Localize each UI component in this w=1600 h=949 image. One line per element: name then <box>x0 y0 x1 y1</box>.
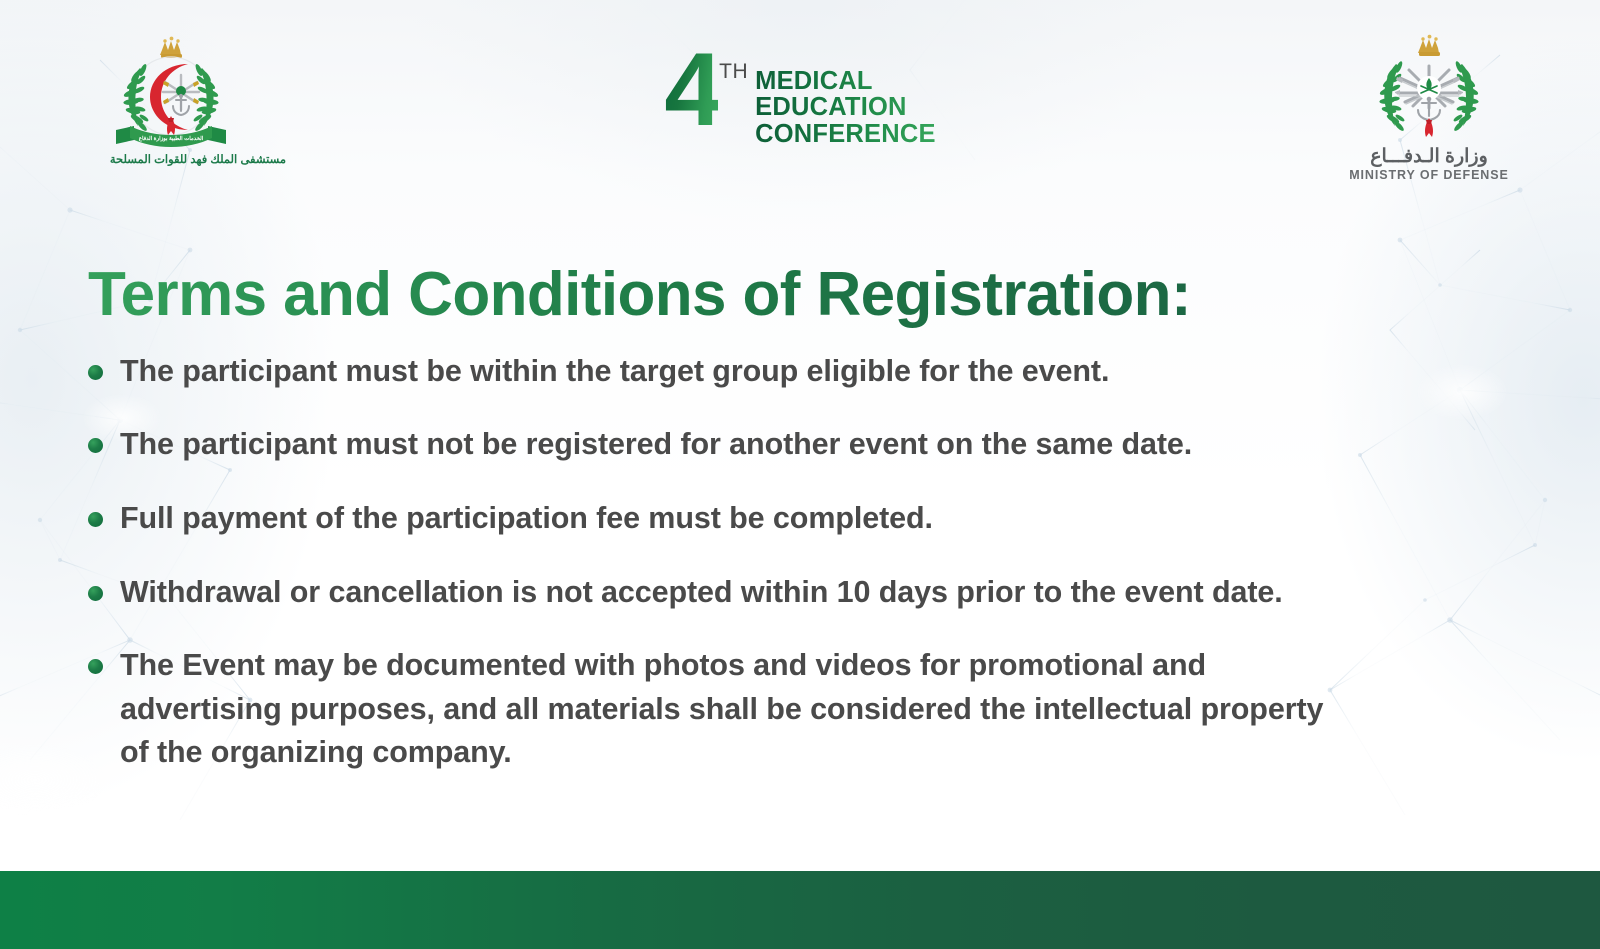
hospital-logo-caption: مستشفى الملك فهد للقوات المسلحة <box>56 154 286 168</box>
conference-line-conference: CONFERENCE <box>755 121 936 147</box>
king-fahd-hospital-emblem-icon: الخدمات الطبية بوزارة الدفاع <box>56 34 286 152</box>
ministry-logo-block: وزارة الـدفـــاع MINISTRY OF DEFENSE <box>1314 34 1544 184</box>
terms-list: The participant must be within the targe… <box>88 350 1548 775</box>
term-text: The participant must be within the targe… <box>120 350 1109 394</box>
page-title: Terms and Conditions of Registration: <box>88 262 1548 328</box>
conference-title-lines: MEDICAL EDUCATION CONFERENCE <box>755 68 936 147</box>
ministry-of-defense-emblem-icon <box>1314 34 1544 146</box>
hospital-logo-block: الخدمات الطبية بوزارة الدفاع مستشفى المل… <box>56 34 286 168</box>
term-text: Full payment of the participation fee mu… <box>120 497 933 541</box>
conference-line-education: EDUCATION <box>755 94 936 120</box>
term-text: The Event may be documented with photos … <box>120 644 1360 775</box>
bullet-icon <box>88 438 103 453</box>
list-item: The participant must not be registered f… <box>88 423 1548 467</box>
ministry-name-arabic: وزارة الـدفـــاع <box>1314 147 1544 168</box>
bullet-icon <box>88 512 103 527</box>
slide-header: الخدمات الطبية بوزارة الدفاع مستشفى المل… <box>0 0 1600 196</box>
term-text: Withdrawal or cancellation is not accept… <box>120 571 1283 615</box>
bullet-icon <box>88 659 103 674</box>
ordinal-suffix-th: TH <box>719 60 748 84</box>
term-text: The participant must not be registered f… <box>120 423 1192 467</box>
conference-logo-lockup: 4 TH MEDICAL EDUCATION CONFERENCE <box>664 48 935 147</box>
slide-content: Terms and Conditions of Registration: Th… <box>88 262 1548 775</box>
ministry-name-english: MINISTRY OF DEFENSE <box>1314 168 1544 184</box>
conference-line-medical: MEDICAL <box>755 68 936 94</box>
bullet-icon <box>88 586 103 601</box>
list-item: Full payment of the participation fee mu… <box>88 497 1548 541</box>
footer-accent-bar <box>0 871 1600 949</box>
conference-edition-numeral: 4 TH <box>664 48 748 133</box>
list-item: Withdrawal or cancellation is not accept… <box>88 571 1548 615</box>
list-item: The Event may be documented with photos … <box>88 644 1548 775</box>
hospital-banner-motto: الخدمات الطبية بوزارة الدفاع <box>139 136 204 142</box>
numeral-4: 4 <box>664 48 718 133</box>
list-item: The participant must be within the targe… <box>88 350 1548 394</box>
slide-root: الخدمات الطبية بوزارة الدفاع مستشفى المل… <box>0 0 1600 949</box>
bullet-icon <box>88 365 103 380</box>
